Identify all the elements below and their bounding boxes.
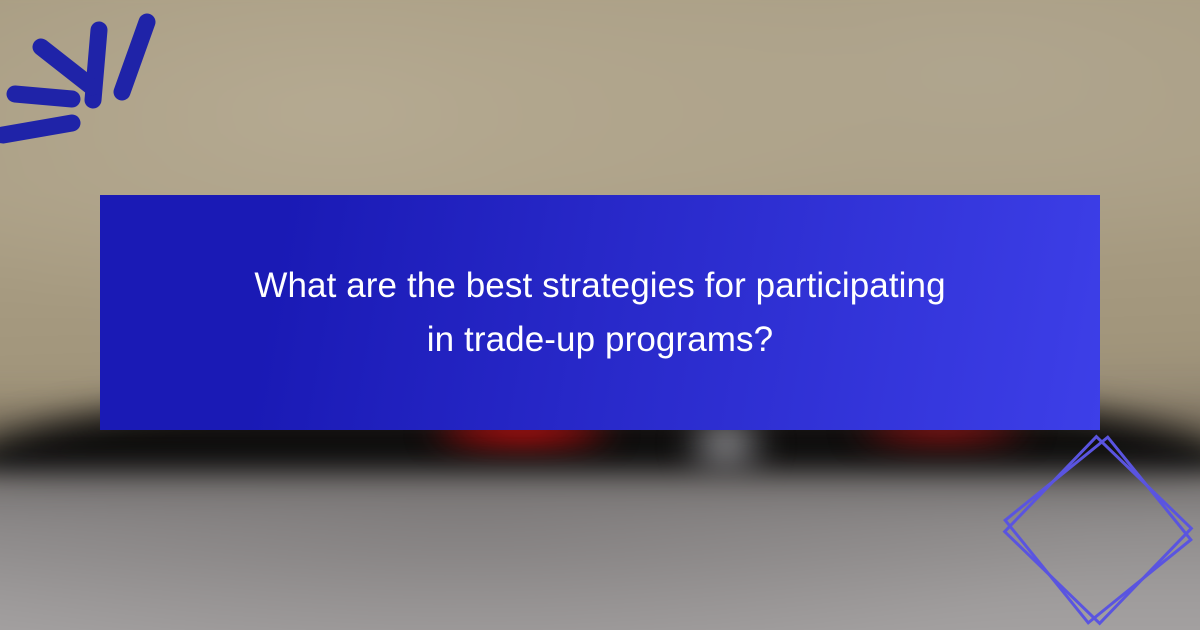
starburst-ray-3 — [41, 47, 92, 87]
share-card-canvas: What are the best strategies for partici… — [0, 0, 1200, 630]
starburst-ray-1 — [122, 22, 147, 92]
starburst-ray-5 — [3, 123, 72, 135]
headline-banner: What are the best strategies for partici… — [100, 195, 1100, 430]
background-pavement — [0, 473, 1200, 630]
page-title: What are the best strategies for partici… — [254, 259, 945, 365]
starburst-ray-4 — [15, 94, 72, 99]
starburst-icon — [0, 0, 200, 170]
